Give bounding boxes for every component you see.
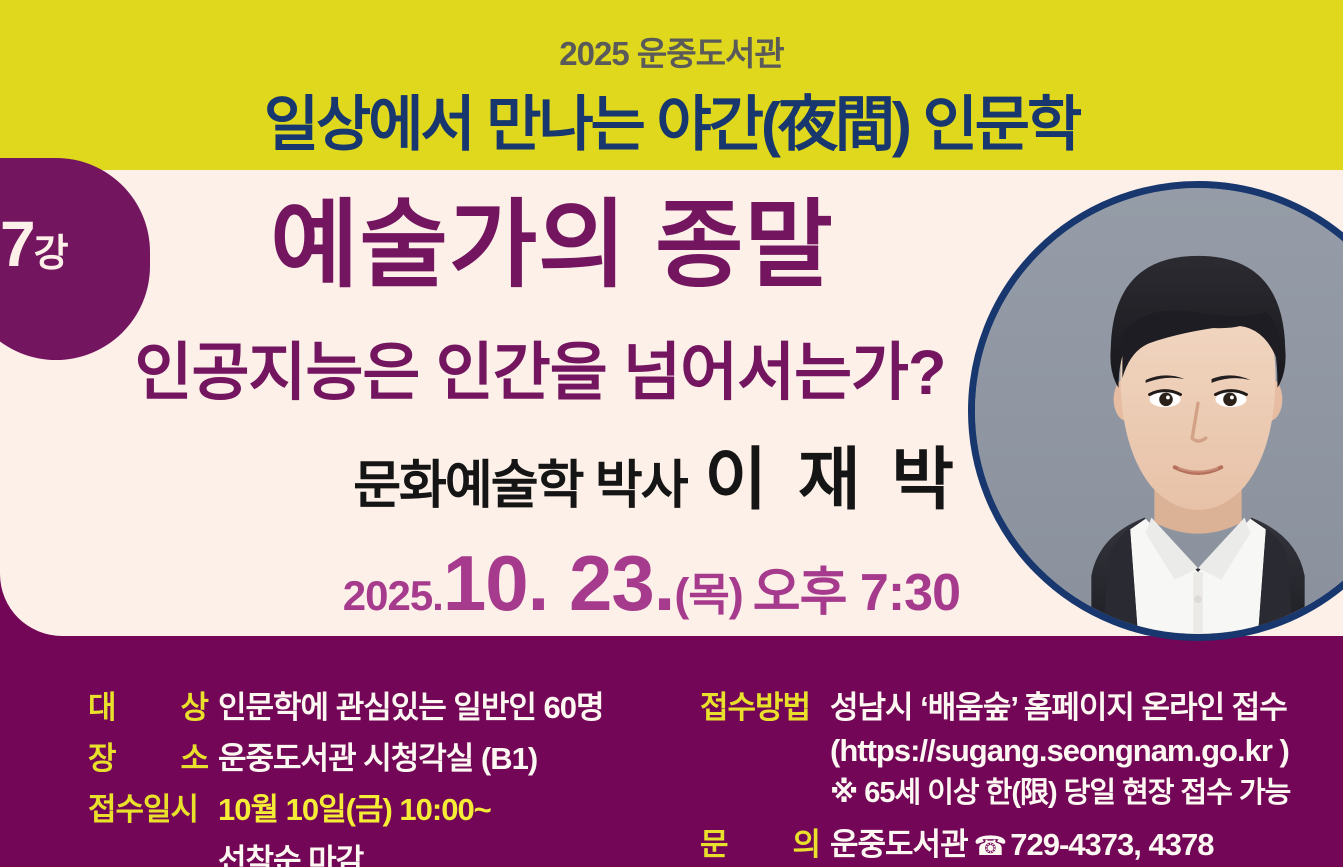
lecture-subtitle: 인공지능은 인간을 넘어서는가? [110,322,970,413]
contact-organization: 운중도서관 [830,827,968,862]
info-row-audience: 대 상 인문학에 관심있는 일반인 60명 [88,682,688,727]
info-note-first-come: 선착순 마감 [218,835,688,867]
lecture-title: 예술가의 종말 [152,196,952,297]
info-label-venue: 장 소 [88,733,210,778]
info-label-contact: 문 의 [700,819,822,864]
info-row-contact: 문 의 운중도서관☎729-4373, 4378 [700,819,1320,864]
lesson-badge-unit: 강 [34,233,67,275]
info-row-venue: 장 소 운중도서관 시청각실 (B1) [88,733,688,778]
event-month-day: 10. 23. [443,539,675,627]
info-label-registration-date: 접수일시 [88,784,210,829]
lesson-badge-text: 7강 [0,212,150,276]
info-value-venue: 운중도서관 시청각실 (B1) [210,733,688,778]
info-label-audience: 대 상 [88,682,210,727]
info-value-contact: 운중도서관☎729-4373, 4378 [822,819,1320,864]
info-column-left: 대 상 인문학에 관심있는 일반인 60명 장 소 운중도서관 시청각실 (B1… [88,682,688,867]
info-value-registration-method: 성남시 ‘배움숲’ 홈페이지 온라인 접수 [822,682,1320,727]
speaker-name: 이 재 박 [705,442,960,518]
contact-phone-number: 729-4373, 4378 [1010,827,1213,862]
poster-headline: 일상에서 만나는 야간(夜間) 인문학 [0,76,1343,163]
event-datetime: 2025.10. 23.(목)오후 7:30 [60,538,960,629]
registration-note-senior: ※ 65세 이상 한(限) 당일 현장 접수 가능 [830,769,1320,811]
registration-url[interactable]: (https://sugang.seongnam.go.kr ) [830,733,1320,769]
poster-kicker: 2025 운중도서관 [0,27,1343,75]
footer-info: 대 상 인문학에 관심있는 일반인 60명 장 소 운중도서관 시청각실 (B1… [0,636,1343,867]
info-row-registration-date: 접수일시 10월 10일(금) 10:00~ [88,784,688,829]
speaker-row: 문화예술학 박사이 재 박 [100,424,960,523]
lesson-badge-number: 7 [0,208,34,280]
speaker-credential: 문화예술학 박사 [353,457,686,515]
info-label-registration-method: 접수방법 [700,682,822,727]
info-value-registration-date: 10월 10일(금) 10:00~ [210,784,688,829]
telephone-icon: ☎ [974,831,1007,861]
event-time: 오후 7:30 [753,564,960,622]
info-value-audience: 인문학에 관심있는 일반인 60명 [210,682,688,727]
event-day-of-week: (목) [674,569,742,620]
info-column-right: 접수방법 성남시 ‘배움숲’ 홈페이지 온라인 접수 (https://suga… [700,682,1320,867]
event-poster: 2025 운중도서관 일상에서 만나는 야간(夜間) 인문학 7강 예술가의 종… [0,0,1343,867]
info-row-registration-method: 접수방법 성남시 ‘배움숲’ 홈페이지 온라인 접수 [700,682,1320,727]
event-year: 2025. [343,572,443,619]
